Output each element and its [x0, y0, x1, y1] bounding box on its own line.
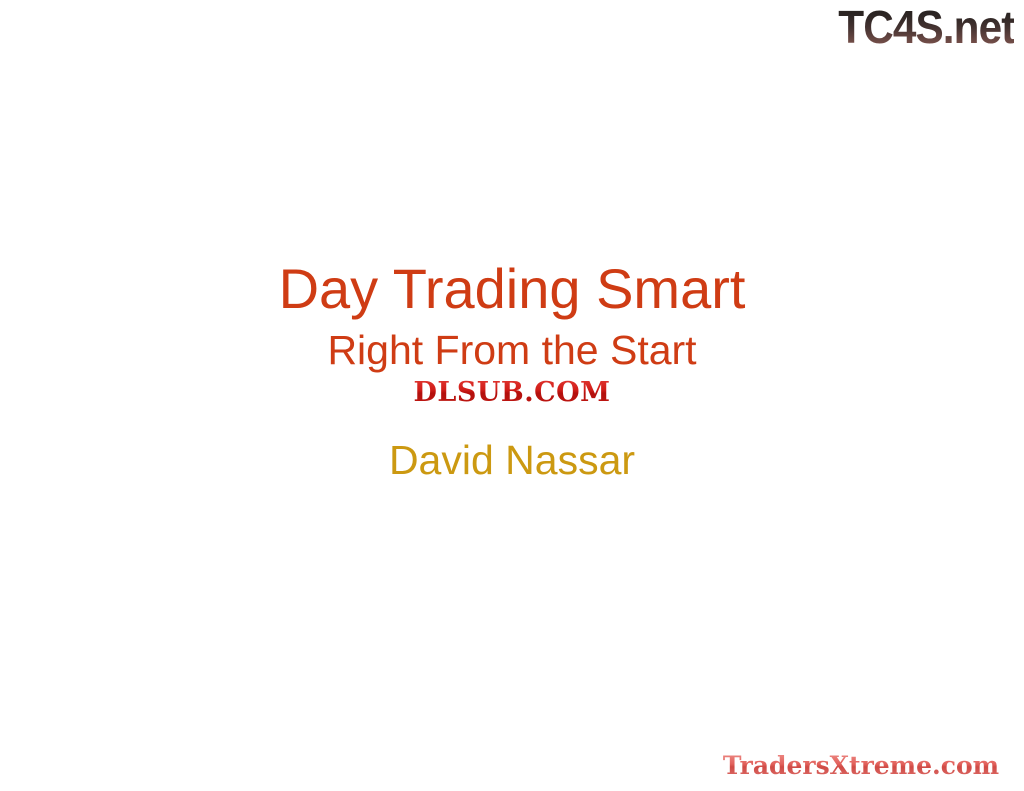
svg-text:DLSUB.COM: DLSUB.COM: [413, 377, 610, 408]
tradersxtreme-watermark: TradersXtreme.com TradersXtreme.com Trad…: [710, 748, 1012, 782]
svg-text:TradersXtreme.com: TradersXtreme.com: [723, 751, 999, 780]
dlsub-watermark: DLSUB.COM DLSUB.COM DLSUB.COM: [366, 377, 658, 409]
title-block: Day Trading Smart Right From the Start: [0, 258, 1024, 373]
page-subtitle: Right From the Start: [0, 320, 1024, 373]
page-title: Day Trading Smart: [0, 258, 1024, 320]
presentation-title-slide: TC4S.net Day Trading Smart Right From th…: [0, 0, 1024, 791]
author-name: David Nassar: [0, 437, 1024, 483]
tc4s-logo: TC4S.net: [838, 2, 1014, 52]
